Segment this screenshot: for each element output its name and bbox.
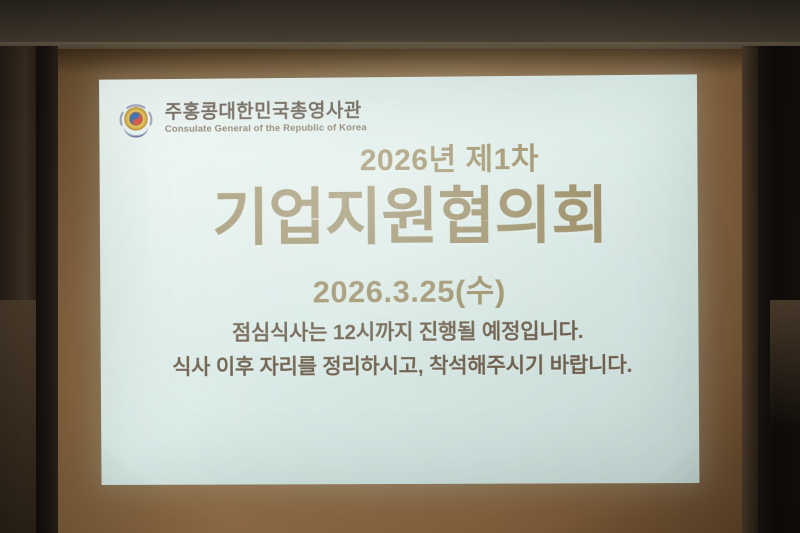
slide-date: 2026.3.25(수)	[100, 264, 698, 313]
consulate-logo: 주홍콩대한민국총영사관 Consulate General of the Rep…	[115, 97, 367, 139]
notice-line-1: 점심식사는 12시까지 진행될 예정입니다.	[100, 314, 698, 351]
slide-title: 기업지원협의회	[100, 183, 698, 254]
conference-room-scene: 주홍콩대한민국총영사관 Consulate General of the Rep…	[0, 0, 800, 533]
projection-screen-surface: 주홍콩대한민국총영사관 Consulate General of the Rep…	[99, 74, 699, 485]
notice-line-2: 식사 이후 자리를 정리하시고, 착석해주시기 바랍니다.	[101, 348, 699, 385]
slide-eyebrow: 2026년 제1차	[99, 133, 697, 182]
slide-headline-group: 2026년 제1차 기업지원협의회 2026.3.25(수)	[99, 133, 698, 313]
left-door-jamb	[36, 46, 58, 533]
ceiling-molding	[0, 42, 800, 49]
left-wall-lower-panel	[0, 300, 36, 533]
consulate-name-korean: 주홍콩대한민국총영사관	[165, 102, 367, 123]
consulate-name-english: Consulate General of the Republic of Kor…	[165, 124, 367, 135]
projection-screen: 주홍콩대한민국총영사관 Consulate General of the Rep…	[99, 74, 699, 485]
korea-government-emblem-icon	[115, 99, 157, 139]
slide-notice-group: 점심식사는 12시까지 진행될 예정입니다. 식사 이후 자리를 정리하시고, …	[100, 314, 698, 385]
consulate-logo-text: 주홍콩대한민국총영사관 Consulate General of the Rep…	[165, 102, 367, 135]
right-dark-column	[758, 46, 800, 533]
right-column-highlight	[770, 300, 800, 430]
ceiling-shadow	[0, 49, 800, 75]
room-ceiling	[0, 0, 800, 46]
presentation-slide: 주홍콩대한민국총영사관 Consulate General of the Rep…	[99, 74, 699, 485]
